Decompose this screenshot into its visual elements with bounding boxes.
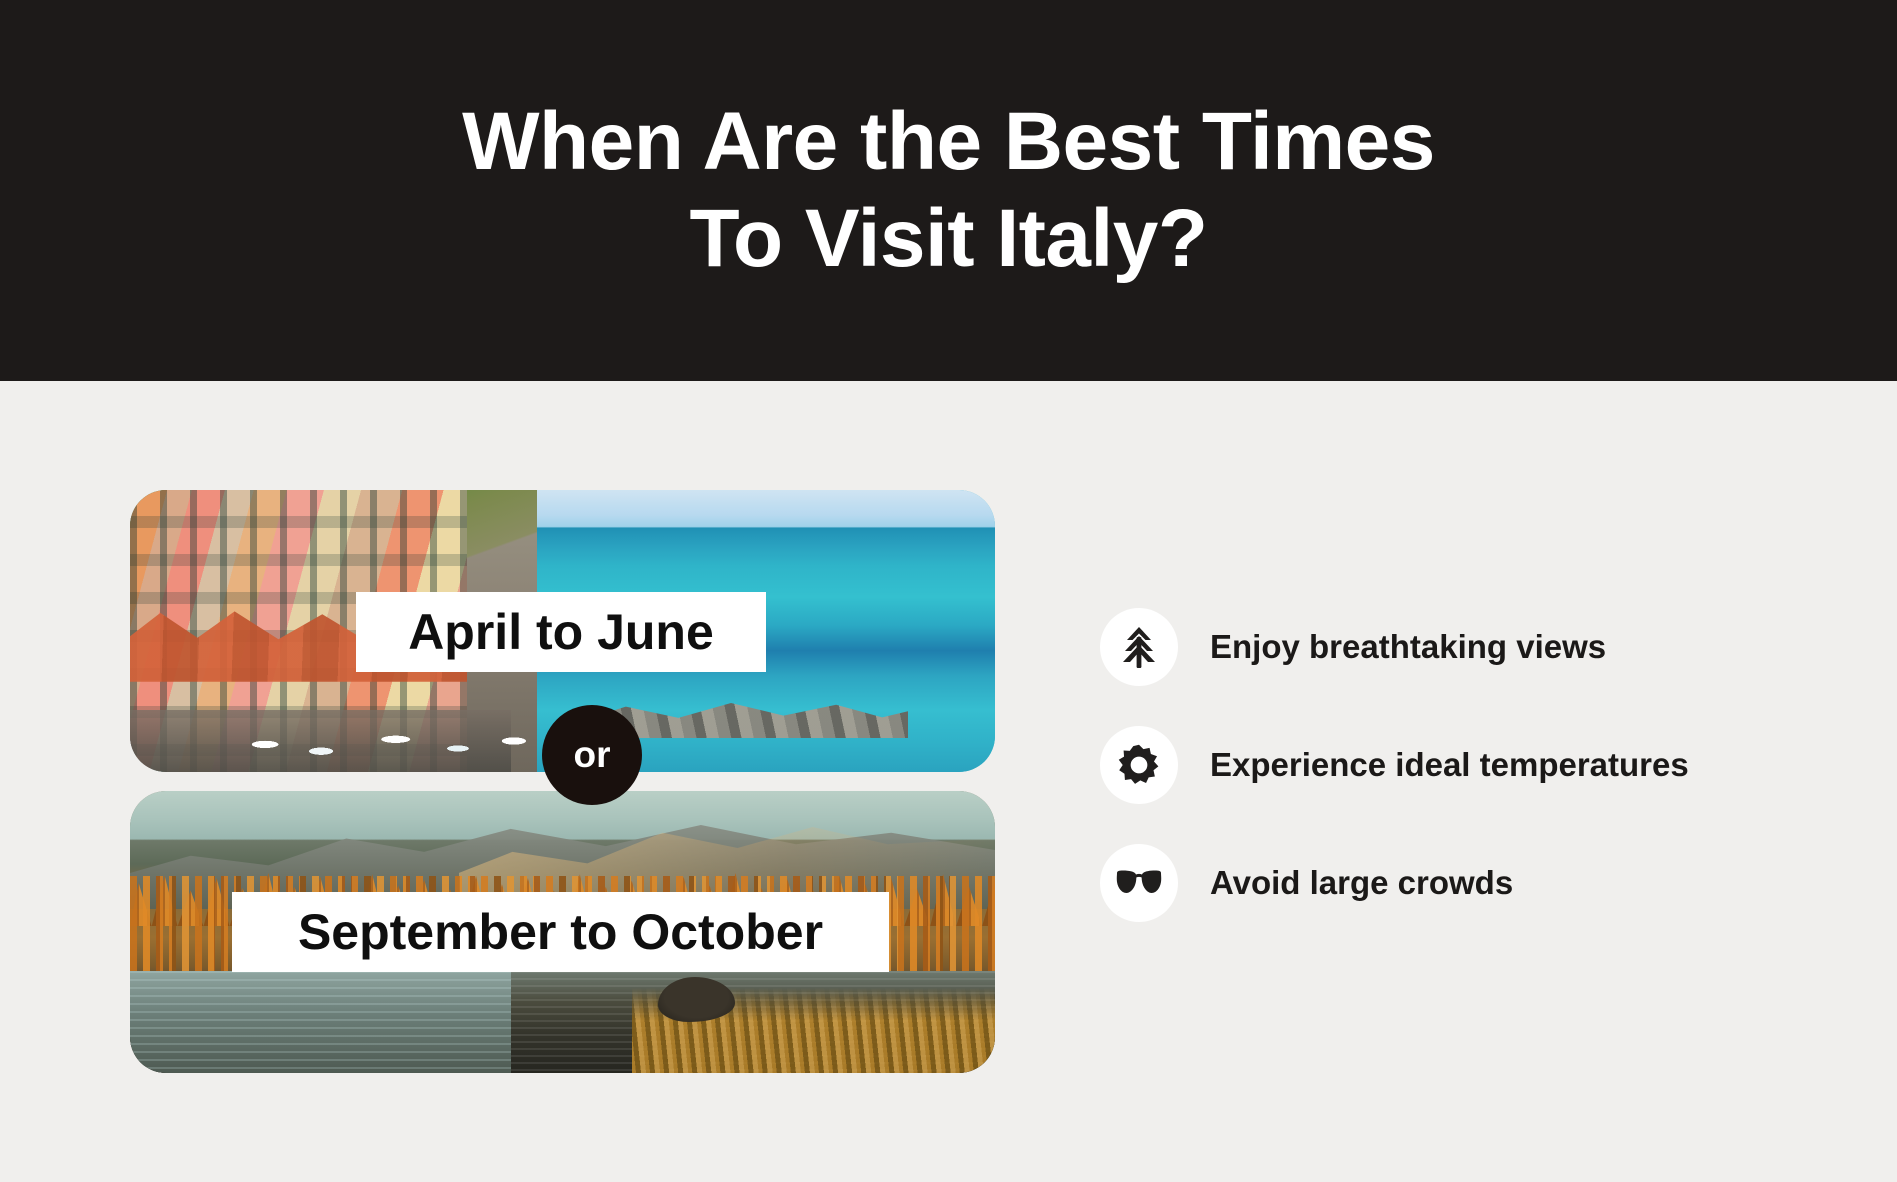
main-content: April to June September to October or	[0, 381, 1897, 1182]
header-banner: When Are the Best Times To Visit Italy?	[0, 0, 1897, 381]
benefit-label-crowds: Avoid large crowds	[1210, 865, 1513, 901]
benefit-label-temperatures: Experience ideal temperatures	[1210, 747, 1689, 783]
sun-icon	[1100, 726, 1178, 804]
benefit-label-views: Enjoy breathtaking views	[1210, 629, 1606, 665]
or-connector-badge: or	[542, 705, 642, 805]
benefit-item-temperatures: Experience ideal temperatures	[1100, 726, 1800, 804]
sunglasses-icon	[1100, 844, 1178, 922]
season-label-spring: April to June	[356, 592, 766, 672]
infographic-page: When Are the Best Times To Visit Italy?	[0, 0, 1897, 1182]
pine-tree-icon	[1100, 608, 1178, 686]
page-title: When Are the Best Times To Visit Italy?	[462, 94, 1435, 288]
benefits-list: Enjoy breathtaking views Experience idea…	[1100, 608, 1800, 922]
boats-shape	[234, 724, 545, 758]
season-label-autumn: September to October	[232, 892, 889, 972]
benefit-item-crowds: Avoid large crowds	[1100, 844, 1800, 922]
benefit-item-views: Enjoy breathtaking views	[1100, 608, 1800, 686]
season-cards-group: April to June September to October or	[130, 490, 995, 1073]
lake-reflection-shape	[130, 971, 511, 1073]
